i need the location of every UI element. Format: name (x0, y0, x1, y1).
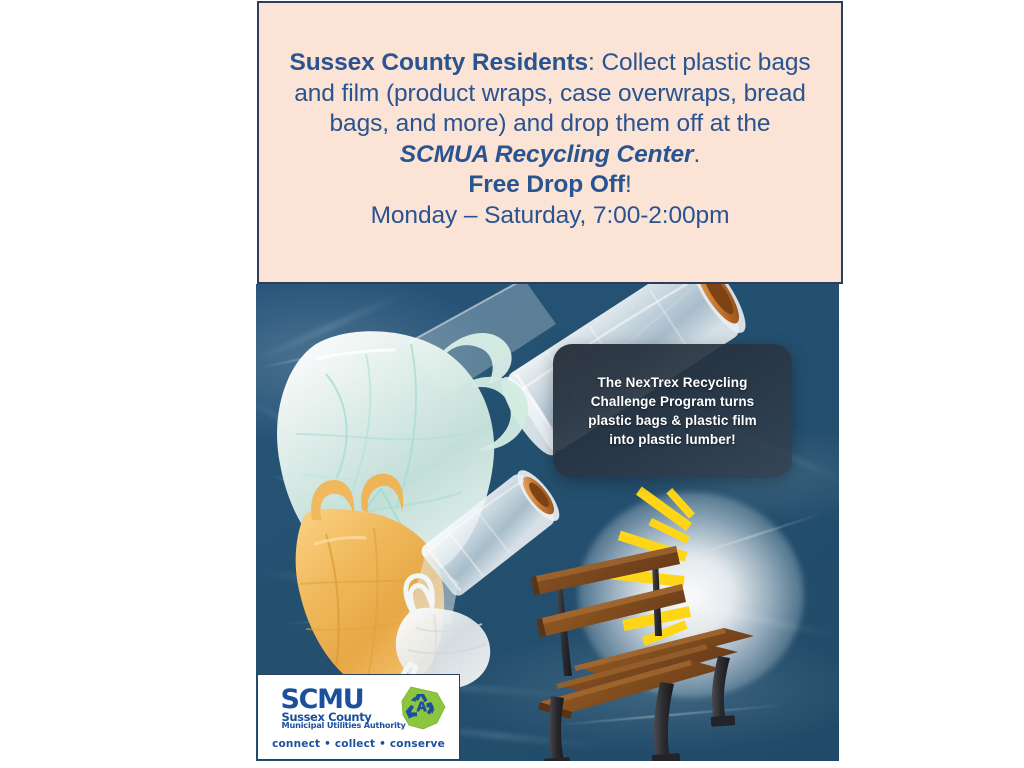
residents-bold-label: Sussex County Residents (289, 49, 588, 76)
scmua-logo-lockup: SCMU Sussex County Municipal Utilities A… (275, 685, 443, 731)
scmua-tagline: connect • collect • conserve (272, 738, 445, 750)
scmua-subtitle-line-2: Municipal Utilities Authority (282, 720, 406, 730)
callout-line-2: Challenge Program turns (591, 394, 755, 409)
header-line-5-rest: ! (625, 171, 632, 198)
free-drop-off-label: Free Drop Off (468, 171, 625, 198)
slide-canvas: The NexTrex Recycling Challenge Program … (0, 0, 1024, 768)
header-line-2: and film (product wraps, case overwraps,… (294, 80, 806, 107)
nextrex-callout-box: The NexTrex Recycling Challenge Program … (553, 344, 792, 478)
callout-line-1: The NexTrex Recycling (598, 375, 748, 390)
scmua-logo-card: SCMU Sussex County Municipal Utilities A… (257, 674, 460, 760)
callout-text: The NexTrex Recycling Challenge Program … (575, 373, 771, 449)
scmua-recycling-center-label: SCMUA Recycling Center (400, 141, 694, 168)
callout-line-3: plastic bags & plastic film (588, 413, 757, 428)
hours-line: Monday – Saturday, 7:00-2:00pm (371, 202, 730, 229)
header-line-3: bags, and more) and drop them off at the (330, 110, 771, 137)
announcement-text: Sussex County Residents: Collect plastic… (285, 48, 815, 237)
header-line-1-rest: : Collect plastic bags (588, 49, 811, 76)
recycling-badge-icon (393, 685, 447, 731)
announcement-header-box: Sussex County Residents: Collect plastic… (257, 1, 843, 284)
header-line-4-rest: . (693, 141, 700, 168)
flyer-illustration-panel: The NexTrex Recycling Challenge Program … (256, 284, 839, 761)
callout-line-4: into plastic lumber! (609, 432, 736, 447)
scmua-wordmark: SCMU (281, 686, 364, 713)
